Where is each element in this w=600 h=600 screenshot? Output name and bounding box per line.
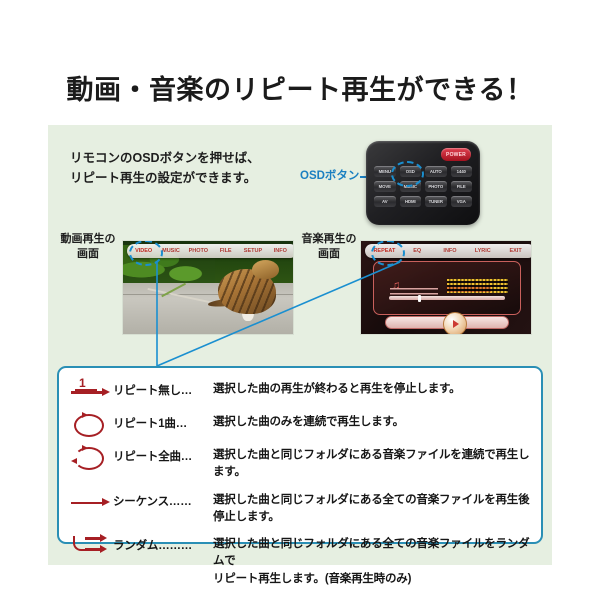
legend-row: 1 リピート無し… 選択した曲の再生が終わると再生を停止します。 [69, 378, 533, 404]
video-screen-caption: 動画再生の 画面 [57, 232, 119, 262]
music-caption-line-1: 音楽再生の [298, 232, 360, 247]
legend-row: シーケンス…… 選択した曲と同じフォルダにある全ての音楽ファイルを再生後 停止し… [69, 489, 533, 527]
play-button[interactable] [443, 312, 467, 335]
video-playback-screen: VIDEO MUSIC PHOTO FILE SETUP INFO [122, 240, 294, 335]
intro-line-2: リピート再生の設定ができます。 [70, 168, 310, 188]
remote-button[interactable]: HDMI [400, 196, 422, 207]
legend-desc-line-2: 停止します。 [213, 509, 529, 526]
repeat-off-arrow [71, 391, 103, 394]
sequence-icon [69, 489, 113, 515]
osd-item-icon[interactable]: INFO [268, 248, 293, 254]
equalizer-visualization-low [447, 287, 491, 292]
remote-button[interactable]: AV [374, 196, 396, 207]
video-caption-line-1: 動画再生の [57, 232, 119, 247]
osd-button-highlight-ring [391, 161, 424, 187]
osd-item-icon[interactable]: INFO [435, 248, 466, 254]
legend-desc-line-1: 選択した曲と同じフォルダにある音楽ファイルを連続で再生します。 [213, 447, 533, 482]
osd-item-icon[interactable]: PHOTO [186, 248, 211, 254]
video-osd-highlight-ring [129, 240, 163, 266]
music-playback-screen: ♫ REPEAT EQ INFO LYRIC EXIT [360, 240, 532, 335]
remote-button[interactable]: FILE [451, 181, 473, 192]
repeat-one-icon [69, 411, 113, 437]
legend-row: リピート全曲… 選択した曲と同じフォルダにある音楽ファイルを連続で再生します。 [69, 444, 533, 482]
osd-item-icon[interactable]: SETUP [240, 248, 265, 254]
repeat-all-loop [74, 447, 104, 470]
legend-row: ランダム……… 選択した曲と同じフォルダにある全ての音楽ファイルをランダムで リ… [69, 533, 533, 588]
repeat-one-arrowhead [82, 412, 88, 418]
legend-desc-line-2: リピート再生します。(音楽再生時のみ) [213, 571, 533, 588]
osd-item-icon[interactable]: FILE [213, 248, 238, 254]
legend-term: リピート1曲… [113, 411, 213, 431]
legend-term: ランダム……… [113, 533, 213, 553]
video-caption-line-2: 画面 [57, 247, 119, 262]
sequence-arrow [71, 502, 103, 505]
music-screen-caption: 音楽再生の 画面 [298, 232, 360, 262]
remote-button[interactable]: AUTO [425, 166, 447, 177]
legend-term: シーケンス…… [113, 489, 213, 509]
remote-power-button[interactable]: POWER [441, 148, 471, 161]
legend-desc-line-1: 選択した曲のみを連続で再生します。 [213, 414, 404, 431]
legend-description: 選択した曲の再生が終わると再生を停止します。 [213, 378, 460, 398]
legend-description: 選択した曲のみを連続で再生します。 [213, 411, 404, 431]
random-arrow-top [85, 537, 101, 540]
music-progress-knob[interactable] [418, 295, 421, 302]
repeat-modes-legend: 1 リピート無し… 選択した曲の再生が終わると再生を停止します。 リピート1曲…… [57, 366, 543, 544]
osd-item-icon[interactable]: EXIT [500, 248, 531, 254]
repeat-all-arrowhead-bottom [71, 458, 77, 464]
remote-control: POWER MENU OSD AUTO 1440 MOVE MUSIC PHOT… [366, 141, 480, 225]
page-root: 動画・音楽のリピート再生ができる！ リモコンのOSDボタンを押せば、 リピート再… [0, 0, 600, 600]
repeat-all-arrowhead-top [82, 445, 88, 451]
intro-line-1: リモコンのOSDボタンを押せば、 [70, 148, 310, 168]
music-player-panel: ♫ [373, 261, 521, 314]
remote-button[interactable]: MOVE [374, 181, 396, 192]
legend-desc-line-1: 選択した曲と同じフォルダにある全ての音楽ファイルを再生後 [213, 492, 529, 509]
music-caption-line-2: 画面 [298, 247, 360, 262]
repeat-all-icon [69, 444, 113, 470]
remote-button[interactable]: PHOTO [425, 181, 447, 192]
repeat-one-loop [74, 414, 104, 437]
random-arrow-bottom [85, 548, 101, 551]
intro-text: リモコンのOSDボタンを押せば、 リピート再生の設定ができます。 [70, 148, 310, 189]
legend-desc-line-1: 選択した曲と同じフォルダにある全ての音楽ファイルをランダムで [213, 536, 533, 571]
osd-item-icon[interactable]: LYRIC [467, 248, 498, 254]
legend-desc-line-1: 選択した曲の再生が終わると再生を停止します。 [213, 381, 460, 398]
cat-head [252, 260, 279, 280]
legend-description: 選択した曲と同じフォルダにある全ての音楽ファイルを再生後 停止します。 [213, 489, 529, 527]
remote-button[interactable]: 1440 [451, 166, 473, 177]
repeat-off-icon: 1 [69, 378, 113, 404]
music-progress-bar[interactable] [389, 296, 506, 300]
remote-button[interactable]: VGA [451, 196, 473, 207]
osd-item-icon[interactable]: EQ [402, 248, 433, 254]
legend-description: 選択した曲と同じフォルダにある全ての音楽ファイルをランダムで リピート再生します… [213, 533, 533, 588]
music-osd-highlight-ring [371, 240, 405, 266]
page-title: 動画・音楽のリピート再生ができる！ [0, 68, 600, 107]
legend-row: リピート1曲… 選択した曲のみを連続で再生します。 [69, 411, 533, 437]
random-icon [69, 533, 113, 559]
legend-term: リピート全曲… [113, 444, 213, 464]
legend-description: 選択した曲と同じフォルダにある音楽ファイルを連続で再生します。 [213, 444, 533, 482]
legend-term: リピート無し… [113, 378, 213, 398]
remote-button[interactable]: TUNER [425, 196, 447, 207]
osd-button-callout-label: OSDボタン [300, 167, 359, 183]
repeat-off-digit: 1 [79, 376, 86, 390]
